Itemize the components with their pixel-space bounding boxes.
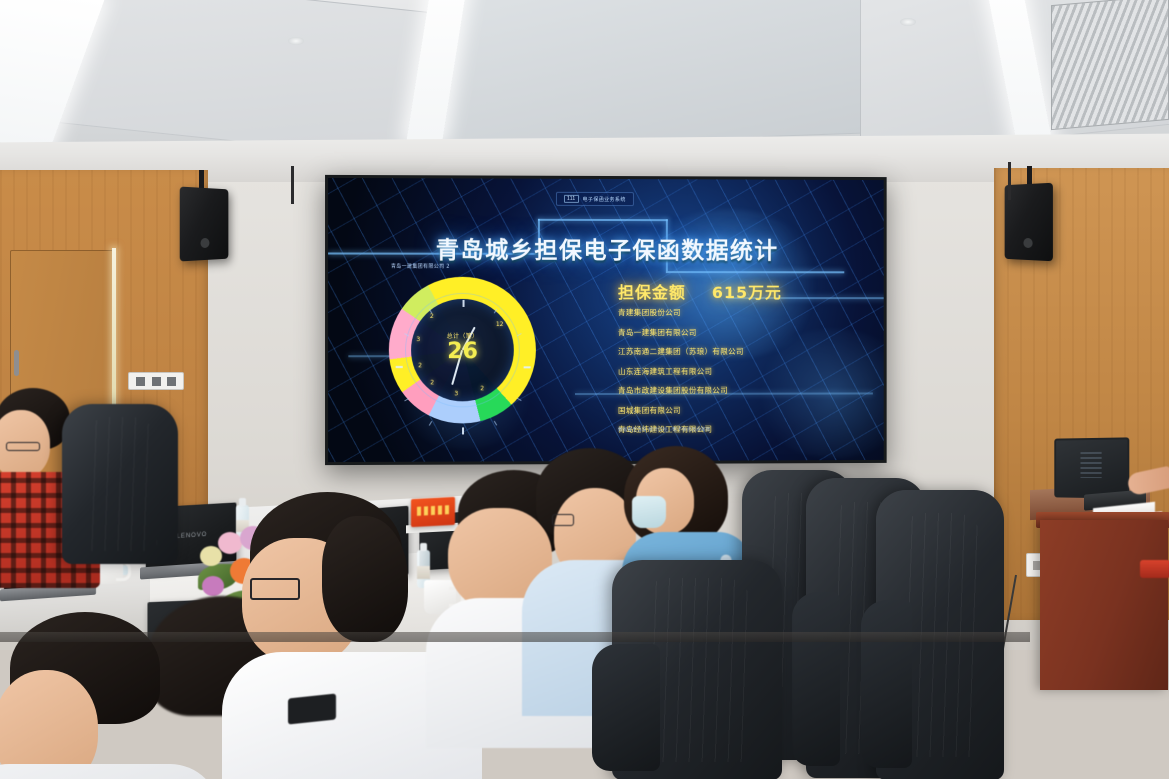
- flower: [218, 532, 242, 554]
- flower: [202, 576, 224, 596]
- ceiling-vent: [1051, 0, 1169, 130]
- eyeglasses: [6, 442, 40, 451]
- table-placard: [411, 497, 455, 527]
- list-item: 青建集团股份公司: [618, 309, 880, 317]
- office-chair[interactable]: [62, 404, 178, 564]
- clock-tick: [494, 309, 497, 314]
- eyeglasses: [250, 578, 300, 600]
- list-item: 青岛市政建设集团股份有限公司: [618, 387, 880, 395]
- donut-segment-label: 2: [418, 362, 422, 369]
- list-item: 江苏南通二建集团（苏琅）有限公司: [618, 348, 880, 356]
- downlight: [288, 37, 304, 45]
- podium: [1040, 520, 1168, 690]
- donut-segment-label: 12: [496, 321, 504, 328]
- donut-segment-label: 2: [430, 379, 434, 386]
- flower: [200, 546, 222, 566]
- clock-tick: [396, 367, 403, 369]
- donut-segment-label: 2: [430, 313, 434, 320]
- wall-speaker-right: [1005, 183, 1053, 262]
- wall-speaker-left: [180, 187, 229, 262]
- donut-segment-label: 2: [480, 385, 484, 392]
- badge-text: 电子保函业务系统: [583, 195, 626, 202]
- light-switch-panel[interactable]: [128, 372, 184, 390]
- red-object-on-table: [1140, 560, 1169, 578]
- donut-segment-label: 3: [454, 390, 458, 397]
- display-content: 111 电子保函业务系统 青岛城乡担保电子保函数据统计 担保金额 615万元 青…: [328, 178, 884, 462]
- screen-mount-pole-right: [1008, 162, 1011, 200]
- donut-segment-label: 3: [416, 336, 420, 343]
- eyeglasses: [552, 514, 574, 526]
- display-header-badge: 111 电子保函业务系统: [556, 192, 634, 206]
- clock-tick: [517, 398, 522, 401]
- clock-tick: [463, 300, 465, 307]
- torso: [0, 764, 220, 779]
- list-item: 山东连海建筑工程有限公司: [618, 367, 880, 375]
- donut-center-text: 总计（笔） 26: [389, 331, 536, 363]
- office-chair[interactable]: [612, 560, 782, 779]
- conference-room-photo: 111 电子保函业务系统 青岛城乡担保电子保函数据统计 担保金额 615万元 青…: [0, 0, 1169, 779]
- amount-label: 担保金额: [618, 283, 686, 302]
- guarantee-amount: 担保金额 615万元: [618, 279, 782, 303]
- badge-mark: 111: [564, 195, 579, 203]
- face-mask: [632, 496, 666, 528]
- door-handle[interactable]: [14, 350, 19, 376]
- clock-tick: [524, 366, 531, 368]
- podium-monitor[interactable]: [1054, 437, 1129, 498]
- led-display-wall[interactable]: 111 电子保函业务系统 青岛城乡担保电子保函数据统计 担保金额 615万元 青…: [325, 175, 887, 465]
- screen-mount-pole-left: [291, 166, 294, 204]
- chart-caption: 青岛一建集团有限公司 2: [391, 263, 450, 270]
- display-title: 青岛城乡担保电子保函数据统计: [328, 230, 884, 265]
- baseboard: [0, 632, 1030, 642]
- donut-chart: 总计（笔） 26 12232232: [389, 277, 536, 424]
- head: [0, 670, 98, 779]
- list-item: 国城集团有限公司: [618, 406, 880, 414]
- list-item: 青岛一建集团有限公司: [618, 328, 880, 336]
- downlight: [900, 18, 916, 26]
- display-footnote: 数据截至当日 统计口径：电子保函出函笔数: [618, 427, 711, 433]
- circuit-trace: [666, 271, 844, 273]
- company-list: 青建集团股份公司 青岛一建集团有限公司 江苏南通二建集团（苏琅）有限公司 山东连…: [618, 309, 880, 445]
- hair-side: [322, 516, 408, 642]
- donut-center-value: 26: [389, 340, 536, 363]
- clock-tick: [463, 427, 465, 434]
- amount-value: 615万元: [712, 283, 782, 302]
- smartphone[interactable]: [288, 693, 336, 724]
